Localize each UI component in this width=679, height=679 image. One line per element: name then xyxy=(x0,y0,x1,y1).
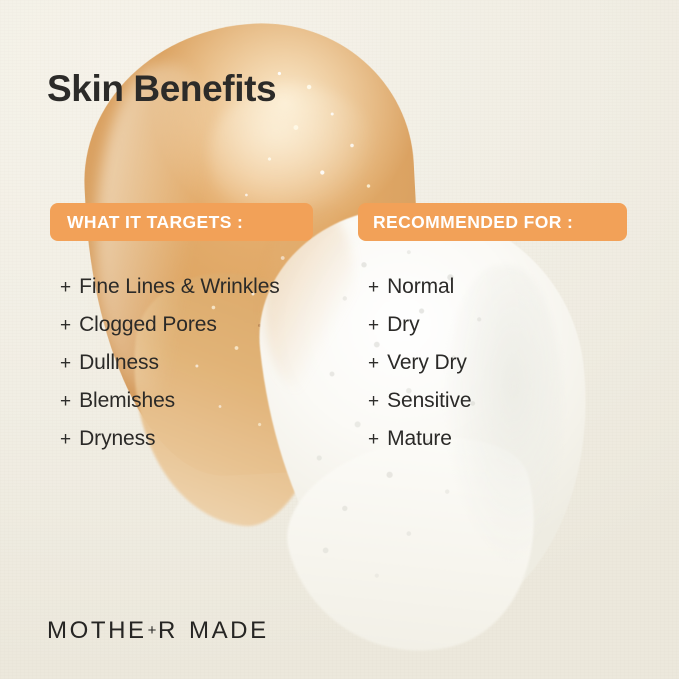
plus-mark-icon: + xyxy=(148,622,159,639)
list-item: + Normal xyxy=(368,275,471,313)
column-header-label: WHAT IT TARGETS : xyxy=(67,212,243,233)
list-item: + Blemishes xyxy=(60,389,280,427)
skin-benefits-infographic: Skin Benefits WHAT IT TARGETS : RECOMMEN… xyxy=(0,0,679,679)
list-item-label: Clogged Pores xyxy=(79,313,217,337)
plus-bullet-icon: + xyxy=(368,315,379,337)
column-header-what-it-targets: WHAT IT TARGETS : xyxy=(50,203,313,241)
list-item: + Very Dry xyxy=(368,351,471,389)
plus-bullet-icon: + xyxy=(60,277,71,299)
plus-bullet-icon: + xyxy=(368,391,379,413)
list-item: + Dry xyxy=(368,313,471,351)
list-item-label: Normal xyxy=(387,275,454,299)
plus-bullet-icon: + xyxy=(60,391,71,413)
list-item: + Clogged Pores xyxy=(60,313,280,351)
plus-bullet-icon: + xyxy=(368,353,379,375)
recommended-list: + Normal + Dry + Very Dry + Sensitive + … xyxy=(368,275,471,465)
column-header-recommended-for: RECOMMENDED FOR : xyxy=(358,203,627,241)
list-item-label: Mature xyxy=(387,427,452,451)
list-item: + Fine Lines & Wrinkles xyxy=(60,275,280,313)
plus-bullet-icon: + xyxy=(60,429,71,451)
list-item: + Dryness xyxy=(60,427,280,465)
list-item-label: Dullness xyxy=(79,351,159,375)
list-item: + Sensitive xyxy=(368,389,471,427)
brand-logo-part-two: MADE xyxy=(189,617,269,645)
list-item: + Dullness xyxy=(60,351,280,389)
plus-bullet-icon: + xyxy=(368,277,379,299)
list-item: + Mature xyxy=(368,427,471,465)
plus-bullet-icon: + xyxy=(368,429,379,451)
list-item-label: Very Dry xyxy=(387,351,467,375)
brand-logo: MOTHE + R MADE xyxy=(47,617,269,645)
targets-list: + Fine Lines & Wrinkles + Clogged Pores … xyxy=(60,275,280,465)
page-title: Skin Benefits xyxy=(47,70,276,109)
list-item-label: Dry xyxy=(387,313,419,337)
list-item-label: Fine Lines & Wrinkles xyxy=(79,275,280,299)
brand-logo-part-one: MOTHE xyxy=(47,617,147,645)
list-item-label: Dryness xyxy=(79,427,155,451)
column-header-label: RECOMMENDED FOR : xyxy=(373,212,573,233)
plus-bullet-icon: + xyxy=(60,315,71,337)
brand-logo-part-one-end: R xyxy=(158,617,178,645)
list-item-label: Sensitive xyxy=(387,389,471,413)
plus-bullet-icon: + xyxy=(60,353,71,375)
list-item-label: Blemishes xyxy=(79,389,175,413)
